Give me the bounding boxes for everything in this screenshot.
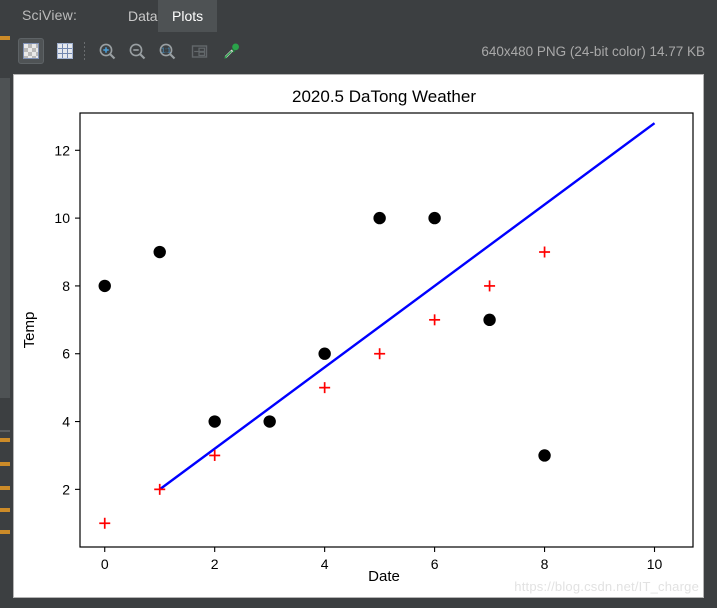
zoom-in-icon <box>98 42 117 61</box>
y-axis-label: Temp <box>21 312 38 349</box>
sciview-label: SciView: <box>22 7 77 23</box>
gutter-marker[interactable] <box>0 438 10 442</box>
x-tick-label: 0 <box>101 556 109 572</box>
data-point-observed <box>263 415 275 427</box>
color-picker-button[interactable] <box>218 38 244 64</box>
data-point-observed <box>538 449 550 461</box>
tab-plots[interactable]: Plots <box>158 0 217 32</box>
gutter-marker[interactable] <box>0 462 10 466</box>
actual-size-button[interactable]: 1:1 <box>154 38 180 64</box>
data-point-observed <box>154 246 166 258</box>
data-point-observed <box>428 212 440 224</box>
fit-content-button[interactable] <box>186 38 212 64</box>
y-tick-label: 6 <box>62 346 70 362</box>
gutter-marker[interactable] <box>0 530 10 534</box>
data-point-observed <box>373 212 385 224</box>
plot-image[interactable]: 2020.5 DaTong Weather 0246810 24681012 D… <box>13 74 704 598</box>
transparency-button[interactable] <box>18 38 44 64</box>
zoom-out-icon <box>128 42 147 61</box>
image-status-text: 640x480 PNG (24-bit color) 14.77 KB <box>481 32 705 72</box>
grid-button[interactable] <box>52 38 78 64</box>
watermark-text: https://blog.csdn.net/IT_charge <box>514 579 699 594</box>
gutter-tick <box>0 430 10 432</box>
eyedropper-icon <box>222 42 241 61</box>
svg-text:1:1: 1:1 <box>161 47 171 54</box>
x-tick-label: 4 <box>321 556 329 572</box>
gutter-marker[interactable] <box>0 486 10 490</box>
toolbar-separator <box>84 42 85 62</box>
gutter-scrollbar[interactable] <box>0 78 10 398</box>
data-point-observed <box>208 415 220 427</box>
y-tick-label: 10 <box>54 210 70 226</box>
x-tick-label: 8 <box>541 556 549 572</box>
tab-bar: SciView: Data Plots <box>10 0 717 32</box>
checkerboard-icon <box>23 43 39 59</box>
gutter-marker[interactable] <box>0 508 10 512</box>
data-point-observed <box>99 280 111 292</box>
y-tick-label: 12 <box>54 142 70 158</box>
figure-background <box>14 75 703 597</box>
y-tick-label: 4 <box>62 414 70 430</box>
data-point-observed <box>483 314 495 326</box>
grid-icon <box>57 43 73 59</box>
chart-title: 2020.5 DaTong Weather <box>292 87 476 106</box>
sciview-window: SciView: Data Plots <box>0 0 717 608</box>
x-axis-label: Date <box>368 568 400 585</box>
matplotlib-figure: 2020.5 DaTong Weather 0246810 24681012 D… <box>14 75 703 597</box>
y-tick-label: 2 <box>62 481 70 497</box>
fit-content-icon <box>190 42 209 61</box>
x-tick-label: 10 <box>647 556 663 572</box>
zoom-out-button[interactable] <box>124 38 150 64</box>
scatter-plot-svg: 2020.5 DaTong Weather 0246810 24681012 D… <box>14 75 703 597</box>
x-tick-label: 2 <box>211 556 219 572</box>
data-point-observed <box>318 348 330 360</box>
x-tick-label: 6 <box>431 556 439 572</box>
editor-gutter-strip <box>0 0 10 608</box>
zoom-actual-size-icon: 1:1 <box>158 42 177 61</box>
zoom-in-button[interactable] <box>94 38 120 64</box>
image-toolbar: 1:1 640x480 PNG (24-bit color) 14.77 KB <box>10 32 717 72</box>
gutter-marker[interactable] <box>0 36 10 40</box>
y-tick-label: 8 <box>62 278 70 294</box>
